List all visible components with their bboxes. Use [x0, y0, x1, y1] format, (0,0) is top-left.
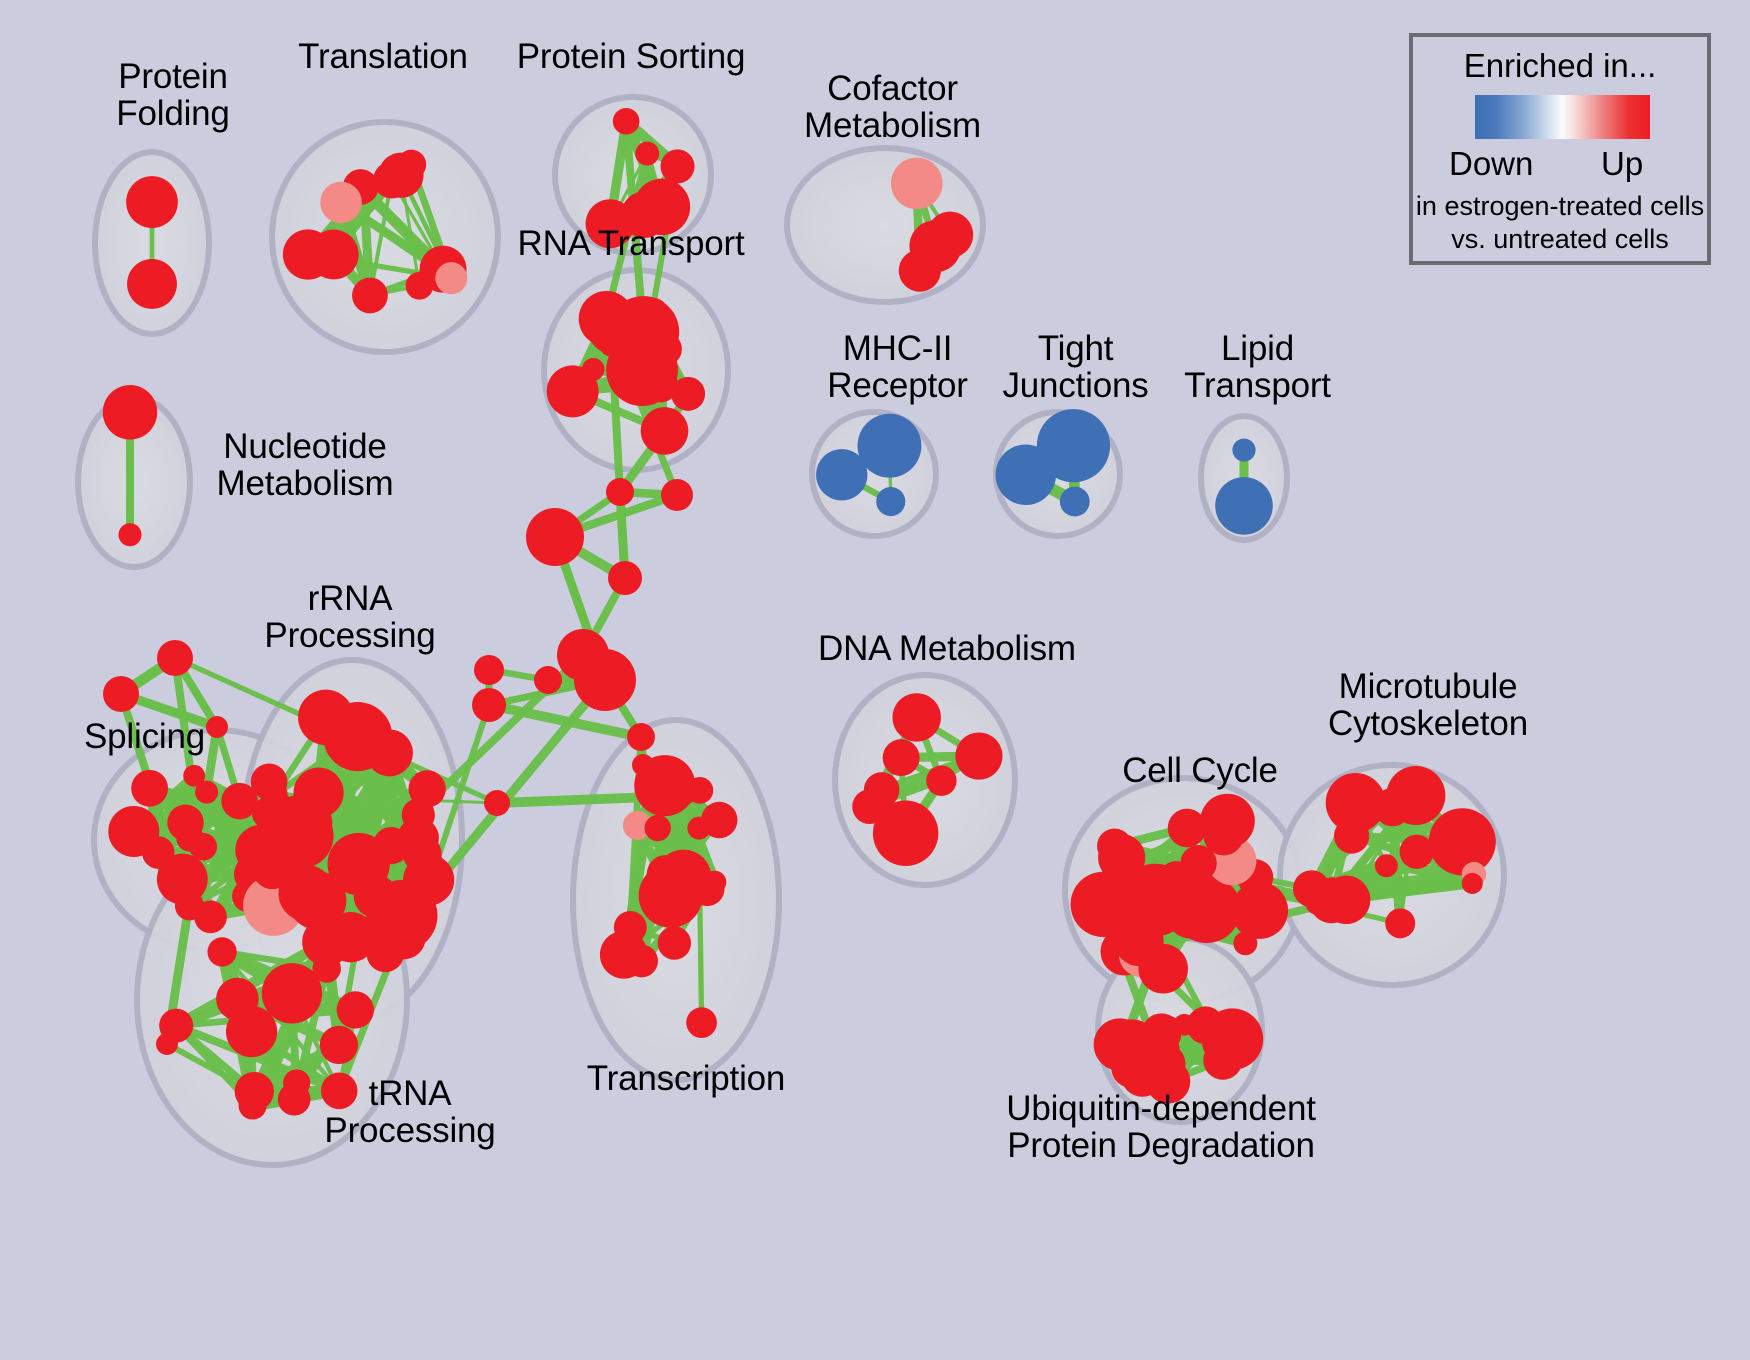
- gene-set-node: [293, 768, 343, 818]
- gene-set-node: [103, 676, 139, 712]
- gene-set-node: [408, 770, 445, 807]
- gene-set-node: [645, 815, 671, 841]
- gene-set-node: [1215, 477, 1273, 535]
- cluster-label-trna-processing: tRNA Processing: [310, 1075, 510, 1149]
- cluster-label-cofactor-metabolism: Cofactor Metabolism: [795, 70, 990, 144]
- gene-set-node: [309, 230, 359, 280]
- gene-set-node: [323, 702, 392, 771]
- gene-set-node: [352, 278, 388, 314]
- gene-set-node: [156, 1033, 178, 1055]
- legend-panel: Enriched in... Down Up in estrogen-treat…: [1409, 33, 1711, 265]
- gene-set-node: [639, 784, 665, 810]
- gene-set-node: [661, 149, 695, 183]
- cluster-label-rrna-processing: rRNA Processing: [250, 580, 450, 654]
- gene-set-node: [641, 407, 689, 455]
- gene-set-node: [996, 444, 1057, 505]
- gene-set-node: [1105, 1019, 1158, 1072]
- gene-set-node: [955, 732, 1002, 779]
- gene-set-node: [526, 508, 584, 566]
- cluster-label-protein-sorting: Protein Sorting: [506, 38, 756, 75]
- cluster-label-lipid-transport: Lipid Transport: [1170, 330, 1345, 404]
- cluster-label-tight-junctions: Tight Junctions: [988, 330, 1163, 404]
- cluster-label-cell-cycle: Cell Cycle: [1110, 752, 1290, 789]
- gene-set-node: [1462, 873, 1483, 894]
- enrichment-map-figure: Protein FoldingTranslationProtein Sortin…: [0, 0, 1750, 1360]
- gene-set-node: [648, 332, 682, 366]
- gene-set-node: [606, 478, 634, 506]
- gene-set-node: [283, 1069, 310, 1096]
- gene-set-node: [582, 358, 605, 381]
- gene-set-node: [1192, 903, 1221, 932]
- gene-set-node: [1079, 886, 1116, 923]
- cluster-label-translation: Translation: [278, 38, 488, 75]
- gene-set-node: [1375, 854, 1398, 877]
- gene-set-node: [216, 978, 259, 1021]
- gene-set-node: [883, 739, 920, 776]
- gene-set-node: [1217, 1010, 1243, 1036]
- gene-set-node: [647, 855, 684, 892]
- gene-set-node: [1173, 1014, 1195, 1036]
- gene-set-node: [608, 561, 642, 595]
- gene-set-node: [320, 182, 362, 224]
- gene-set-node: [1232, 439, 1255, 462]
- gene-set-node: [627, 723, 655, 751]
- gene-set-node: [686, 1007, 717, 1038]
- gene-set-node: [1306, 892, 1328, 914]
- cluster-label-ubiquitin-degradation: Ubiquitin-dependent Protein Degradation: [996, 1090, 1326, 1164]
- gene-set-node: [312, 954, 340, 982]
- gene-set-node: [239, 1091, 267, 1119]
- gene-set-node: [816, 449, 867, 500]
- edge: [497, 797, 652, 803]
- gene-set-node: [1097, 829, 1132, 864]
- gene-set-node: [397, 150, 427, 180]
- gene-set-node: [382, 915, 426, 959]
- gene-set-node: [574, 649, 636, 711]
- gene-set-node: [1168, 809, 1207, 848]
- gene-set-node: [534, 666, 562, 694]
- legend-high-label: Up: [1601, 145, 1643, 183]
- gene-set-node: [337, 991, 374, 1028]
- gene-set-node: [1373, 788, 1411, 826]
- gene-set-node: [103, 385, 158, 440]
- gene-set-node: [207, 937, 236, 966]
- gene-set-node: [176, 824, 203, 851]
- cluster-label-mhc-ii-receptor: MHC-II Receptor: [810, 330, 985, 404]
- gene-set-node: [474, 655, 504, 685]
- gene-set-node: [373, 827, 410, 864]
- gene-set-node: [108, 806, 159, 857]
- gene-set-node: [625, 945, 658, 978]
- legend-low-label: Down: [1449, 145, 1533, 183]
- gene-set-node: [118, 523, 141, 546]
- gene-set-node: [927, 212, 973, 258]
- gene-set-node: [639, 298, 668, 327]
- gene-set-node: [157, 640, 193, 676]
- gene-set-node: [661, 479, 693, 511]
- gene-set-node: [658, 926, 691, 959]
- gene-set-node: [472, 688, 506, 722]
- gene-set-node: [484, 790, 510, 816]
- gene-set-node: [1429, 808, 1496, 875]
- gene-set-node: [1180, 845, 1216, 881]
- gene-set-node: [406, 272, 434, 300]
- cluster-label-rna-transport: RNA Transport: [506, 225, 756, 262]
- gene-set-node: [635, 142, 659, 166]
- cluster-label-dna-metabolism: DNA Metabolism: [818, 630, 1068, 667]
- gene-set-node: [671, 377, 705, 411]
- cluster-label-microtubule-cytoskeleton: Microtubule Cytoskeleton: [1318, 668, 1538, 742]
- gene-set-node: [613, 108, 640, 135]
- gene-set-node: [632, 754, 654, 776]
- legend-color-gradient-bar: [1475, 95, 1650, 139]
- gene-set-node: [891, 158, 943, 210]
- gene-set-node: [252, 849, 292, 889]
- gene-set-node: [864, 772, 900, 808]
- gene-set-node: [587, 301, 641, 355]
- gene-set-node: [127, 259, 177, 309]
- gene-set-node: [126, 176, 178, 228]
- gene-set-node: [183, 765, 205, 787]
- gene-set-node: [435, 262, 467, 294]
- gene-set-node: [892, 693, 940, 741]
- cluster-label-splicing: Splicing: [62, 718, 227, 755]
- legend-subtitle-line-1: in estrogen-treated cells: [1413, 191, 1707, 222]
- gene-set-node: [926, 765, 956, 795]
- gene-set-node: [899, 250, 941, 292]
- gene-set-node: [403, 854, 454, 905]
- cluster-label-transcription: Transcription: [576, 1060, 796, 1097]
- gene-set-node: [320, 1026, 358, 1064]
- legend-title: Enriched in...: [1413, 47, 1707, 85]
- gene-set-node: [1060, 487, 1090, 517]
- gene-set-node: [1138, 944, 1188, 994]
- legend-subtitle-line-2: vs. untreated cells: [1413, 224, 1707, 255]
- gene-set-node: [157, 854, 208, 905]
- cluster-label-protein-folding: Protein Folding: [88, 58, 258, 132]
- cluster-label-nucleotide-metabolism: Nucleotide Metabolism: [200, 428, 410, 502]
- gene-set-node: [1151, 880, 1196, 925]
- gene-set-node: [876, 487, 905, 516]
- gene-set-node: [131, 770, 168, 807]
- gene-set-node: [687, 817, 710, 840]
- gene-set-node: [1385, 908, 1415, 938]
- gene-set-node: [858, 414, 922, 478]
